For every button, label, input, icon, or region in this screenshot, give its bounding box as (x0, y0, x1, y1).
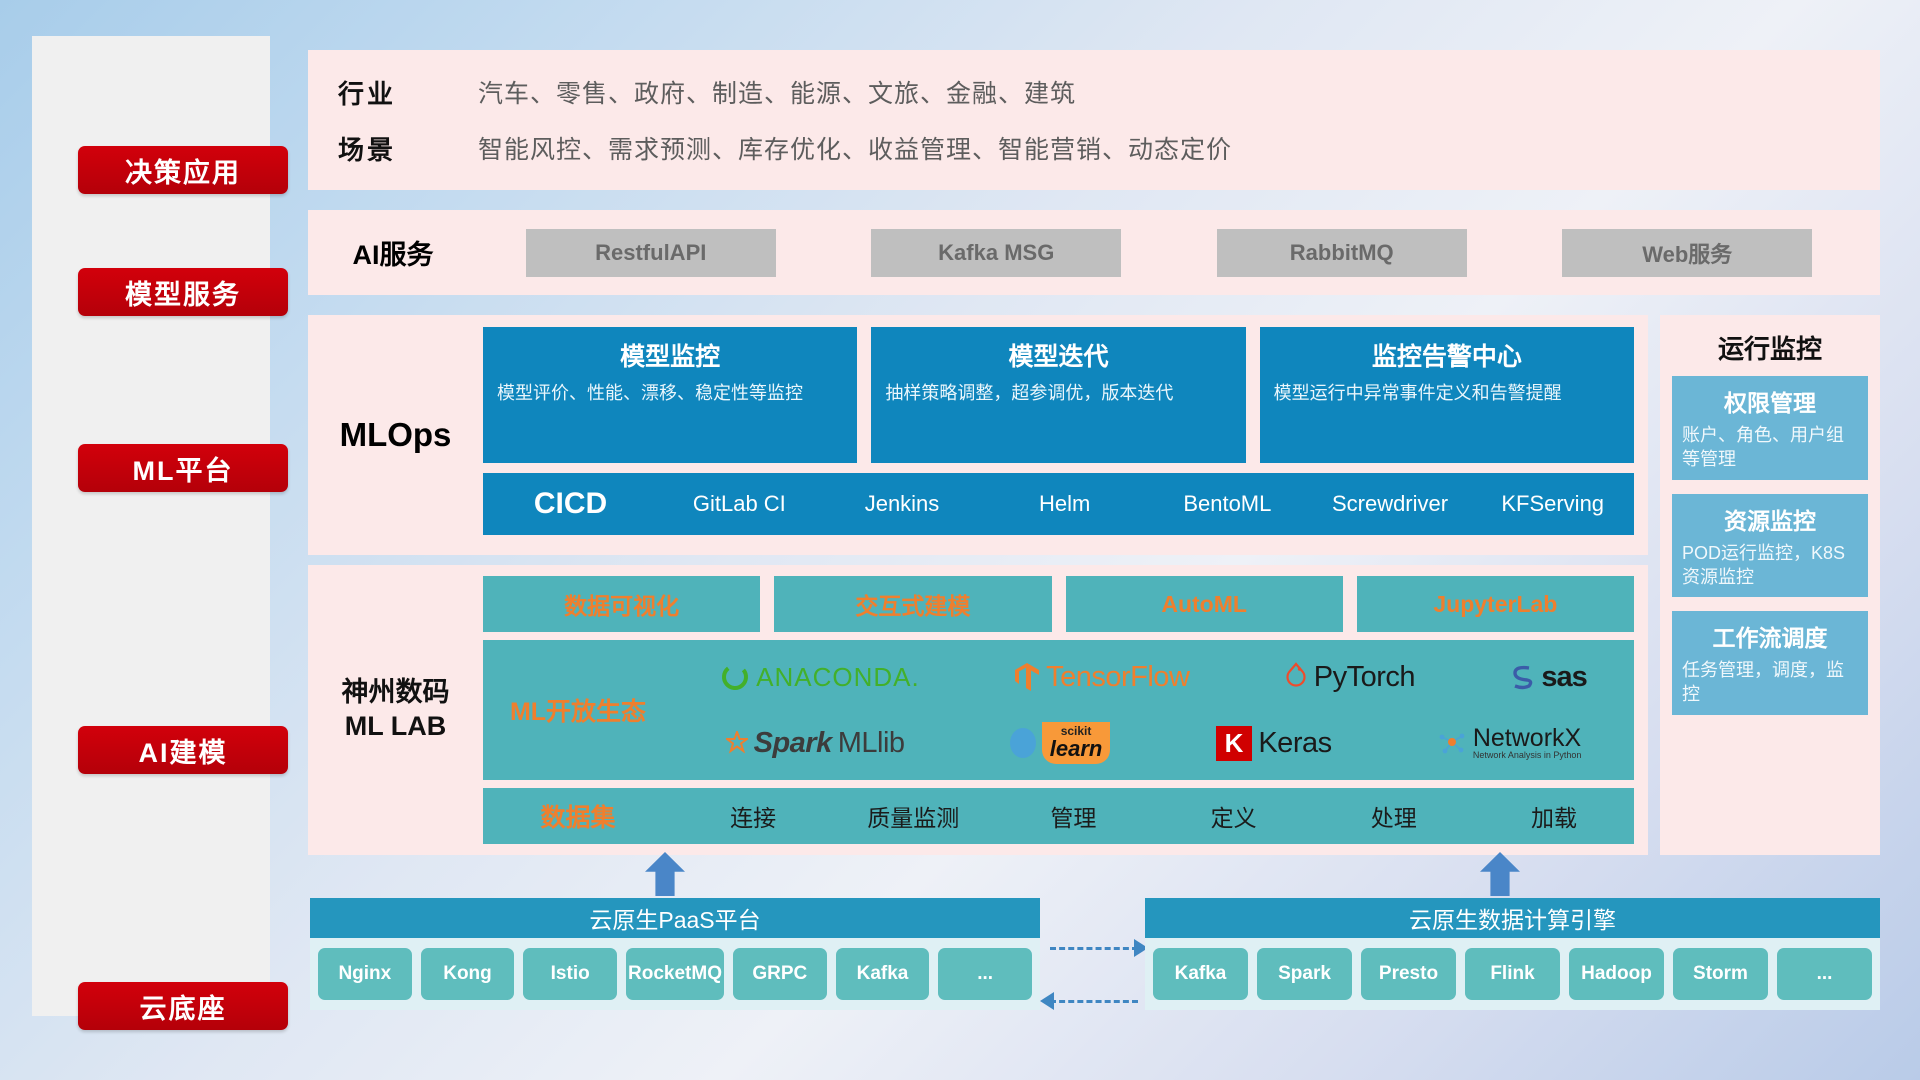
scenario-row: 场景 智能风控、需求预测、库存优化、收益管理、智能营销、动态定价 (338, 120, 1880, 176)
dashed-arrow-right-icon (1050, 947, 1138, 950)
keras-logo: K Keras (1216, 726, 1332, 761)
cicd-item-bentoml[interactable]: BentoML (1146, 492, 1309, 516)
spark-mllib-logo: Spark MLlib (726, 727, 905, 760)
tensorflow-logo-text: TensorFlow (1046, 661, 1189, 694)
pytorch-flame-icon (1284, 662, 1308, 692)
paas-chip-rocketmq[interactable]: RocketMQ (626, 948, 724, 1000)
mlops-card-alert-center[interactable]: 监控告警中心 模型运行中异常事件定义和告警提醒 (1260, 327, 1634, 463)
industry-label: 行业 (338, 74, 478, 111)
monitor-card-resource[interactable]: 资源监控 POD运行监控，K8S资源监控 (1672, 494, 1868, 598)
paas-chip-kafka[interactable]: Kafka (836, 948, 930, 1000)
card-title: 权限管理 (1682, 384, 1858, 418)
cicd-item-kfserving[interactable]: KFServing (1471, 492, 1634, 516)
compute-chip-storm[interactable]: Storm (1673, 948, 1768, 1000)
card-desc: 任务管理，调度，监控 (1682, 658, 1858, 707)
dataset-item-connect[interactable]: 连接 (673, 799, 833, 833)
sas-logo: sas (1509, 661, 1586, 694)
sas-mark-icon (1509, 663, 1535, 691)
cicd-item-jenkins[interactable]: Jenkins (821, 492, 984, 516)
networkx-logo: NetworkX Network Analysis in Python (1437, 726, 1582, 760)
ai-service-chip-restfulapi[interactable]: RestfulAPI (526, 229, 776, 277)
dataset-item-process[interactable]: 处理 (1314, 799, 1474, 833)
keras-logo-text: Keras (1258, 727, 1331, 760)
industry-row: 行业 汽车、零售、政府、制造、能源、文旅、金融、建筑 (338, 64, 1880, 120)
mlops-card-model-monitoring[interactable]: 模型监控 模型评价、性能、漂移、稳定性等监控 (483, 327, 857, 463)
ml-ecosystem-label: ML开放生态 (483, 692, 673, 728)
compute-chip-kafka[interactable]: Kafka (1153, 948, 1248, 1000)
industry-value: 汽车、零售、政府、制造、能源、文旅、金融、建筑 (478, 74, 1076, 110)
cloud-paas-title: 云原生PaaS平台 (310, 898, 1040, 938)
paas-chip-more[interactable]: ... (938, 948, 1032, 1000)
learn-text: learn (1050, 738, 1103, 760)
ml-lab-label: 神州数码 ML LAB (308, 676, 483, 744)
dataset-item-define[interactable]: 定义 (1154, 799, 1314, 833)
cicd-title: CICD (483, 487, 658, 521)
pytorch-logo-text: PyTorch (1314, 661, 1415, 694)
sas-logo-text: sas (1541, 661, 1586, 694)
networkx-logo-text: NetworkX (1473, 726, 1582, 751)
cloud-compute-title: 云原生数据计算引擎 (1145, 898, 1880, 938)
anaconda-logo: ANACONDA. (720, 662, 920, 693)
layer-rail: 决策应用 模型服务 ML平台 AI建模 (32, 36, 270, 1016)
ml-lab-label-line2: ML LAB (308, 710, 483, 744)
card-title: 工作流调度 (1682, 619, 1858, 653)
ai-service-chip-web[interactable]: Web服务 (1562, 229, 1812, 277)
layer-chip-cloud-base[interactable]: 云底座 (78, 982, 288, 1030)
card-desc: 抽样策略调整，超参调优，版本迭代 (885, 381, 1231, 406)
paas-chip-nginx[interactable]: Nginx (318, 948, 412, 1000)
dashed-arrow-left-icon (1050, 1000, 1138, 1003)
dataset-item-manage[interactable]: 管理 (993, 799, 1153, 833)
tool-tab-interactive-modeling[interactable]: 交互式建模 (774, 576, 1051, 632)
tool-tab-jupyterlab[interactable]: JupyterLab (1357, 576, 1634, 632)
runtime-monitor-panel: 运行监控 权限管理 账户、角色、用户组等管理 资源监控 POD运行监控，K8S资… (1660, 315, 1880, 855)
ai-service-label: AI服务 (308, 233, 478, 272)
tool-tab-data-visualization[interactable]: 数据可视化 (483, 576, 760, 632)
anaconda-mark-icon (720, 662, 750, 692)
dataset-item-load[interactable]: 加载 (1474, 799, 1634, 833)
decision-applications-band: 行业 汽车、零售、政府、制造、能源、文旅、金融、建筑 场景 智能风控、需求预测、… (308, 50, 1880, 190)
layer-chip-ml-platform[interactable]: ML平台 (78, 444, 288, 492)
up-arrow-paas-icon (645, 852, 685, 896)
paas-chip-grpc[interactable]: GRPC (733, 948, 827, 1000)
tool-tab-automl[interactable]: AutoML (1066, 576, 1343, 632)
runtime-monitor-title: 运行监控 (1660, 315, 1880, 376)
card-title: 模型迭代 (885, 337, 1231, 373)
paas-chip-istio[interactable]: Istio (523, 948, 617, 1000)
layer-chip-decision-apps[interactable]: 决策应用 (78, 146, 288, 194)
tensorflow-mark-icon (1014, 662, 1040, 692)
cloud-native-compute-engine-block: 云原生数据计算引擎 Kafka Spark Presto Flink Hadoo… (1145, 898, 1880, 1010)
card-desc: 模型评价、性能、漂移、稳定性等监控 (497, 381, 843, 406)
cloud-native-paas-block: 云原生PaaS平台 Nginx Kong Istio RocketMQ GRPC… (310, 898, 1040, 1010)
card-title: 模型监控 (497, 337, 843, 373)
layer-chip-ai-modeling[interactable]: AI建模 (78, 726, 288, 774)
mllib-logo-text: MLlib (838, 727, 905, 760)
mlops-band: MLOps 模型监控 模型评价、性能、漂移、稳定性等监控 模型迭代 抽样策略调整… (308, 315, 1648, 555)
layer-chip-model-service[interactable]: 模型服务 (78, 268, 288, 316)
card-title: 资源监控 (1682, 502, 1858, 536)
networkx-graph-icon (1437, 729, 1467, 757)
mlops-label: MLOps (308, 416, 483, 454)
compute-chip-presto[interactable]: Presto (1361, 948, 1456, 1000)
compute-chip-flink[interactable]: Flink (1465, 948, 1560, 1000)
ai-service-band: AI服务 RestfulAPI Kafka MSG RabbitMQ Web服务 (308, 210, 1880, 295)
spark-logo-text: Spark (754, 727, 832, 760)
compute-chip-more[interactable]: ... (1777, 948, 1872, 1000)
monitor-card-workflow[interactable]: 工作流调度 任务管理，调度，监控 (1672, 611, 1868, 715)
scikit-blue-blob-icon (1010, 728, 1036, 758)
card-desc: POD运行监控，K8S资源监控 (1682, 541, 1858, 590)
scikit-orange-blob-icon: scikit learn (1042, 722, 1111, 764)
scenario-label: 场景 (338, 130, 478, 167)
cicd-item-helm[interactable]: Helm (983, 492, 1146, 516)
compute-chip-hadoop[interactable]: Hadoop (1569, 948, 1664, 1000)
paas-chip-kong[interactable]: Kong (421, 948, 515, 1000)
card-title: 监控告警中心 (1274, 337, 1620, 373)
ml-lab-label-line1: 神州数码 (308, 676, 483, 710)
keras-mark-icon: K (1216, 726, 1253, 761)
arrow-head-left-icon (1040, 992, 1054, 1010)
up-arrow-compute-engine-icon (1480, 852, 1520, 896)
cicd-item-gitlab-ci[interactable]: GitLab CI (658, 492, 821, 516)
cicd-item-screwdriver[interactable]: Screwdriver (1309, 492, 1472, 516)
scikit-learn-logo: scikit learn (1010, 722, 1111, 764)
cicd-bar: CICD GitLab CI Jenkins Helm BentoML Scre… (483, 473, 1634, 535)
dataset-bar: 数据集 连接 质量监测 管理 定义 处理 加载 (483, 788, 1634, 844)
anaconda-logo-text: ANACONDA. (756, 662, 920, 693)
ai-modeling-band: 神州数码 ML LAB 数据可视化 交互式建模 AutoML JupyterLa… (308, 565, 1648, 855)
tensorflow-logo: TensorFlow (1014, 661, 1189, 694)
card-desc: 模型运行中异常事件定义和告警提醒 (1274, 381, 1620, 406)
ai-service-chip-kafka-msg[interactable]: Kafka MSG (871, 229, 1121, 277)
ml-ecosystem-box: ML开放生态 ANACONDA. Te (483, 640, 1634, 780)
dataset-item-quality-monitoring[interactable]: 质量监测 (833, 799, 993, 833)
networkx-logo-subtext: Network Analysis in Python (1473, 751, 1582, 760)
pytorch-logo: PyTorch (1284, 661, 1415, 694)
card-desc: 账户、角色、用户组等管理 (1682, 423, 1858, 472)
scenario-value: 智能风控、需求预测、库存优化、收益管理、智能营销、动态定价 (478, 130, 1232, 166)
dataset-title: 数据集 (483, 798, 673, 834)
spark-star-icon (726, 731, 748, 755)
ai-service-chip-rabbitmq[interactable]: RabbitMQ (1217, 229, 1467, 277)
mlops-card-model-iteration[interactable]: 模型迭代 抽样策略调整，超参调优，版本迭代 (871, 327, 1245, 463)
compute-chip-spark[interactable]: Spark (1257, 948, 1352, 1000)
monitor-card-permission[interactable]: 权限管理 账户、角色、用户组等管理 (1672, 376, 1868, 480)
